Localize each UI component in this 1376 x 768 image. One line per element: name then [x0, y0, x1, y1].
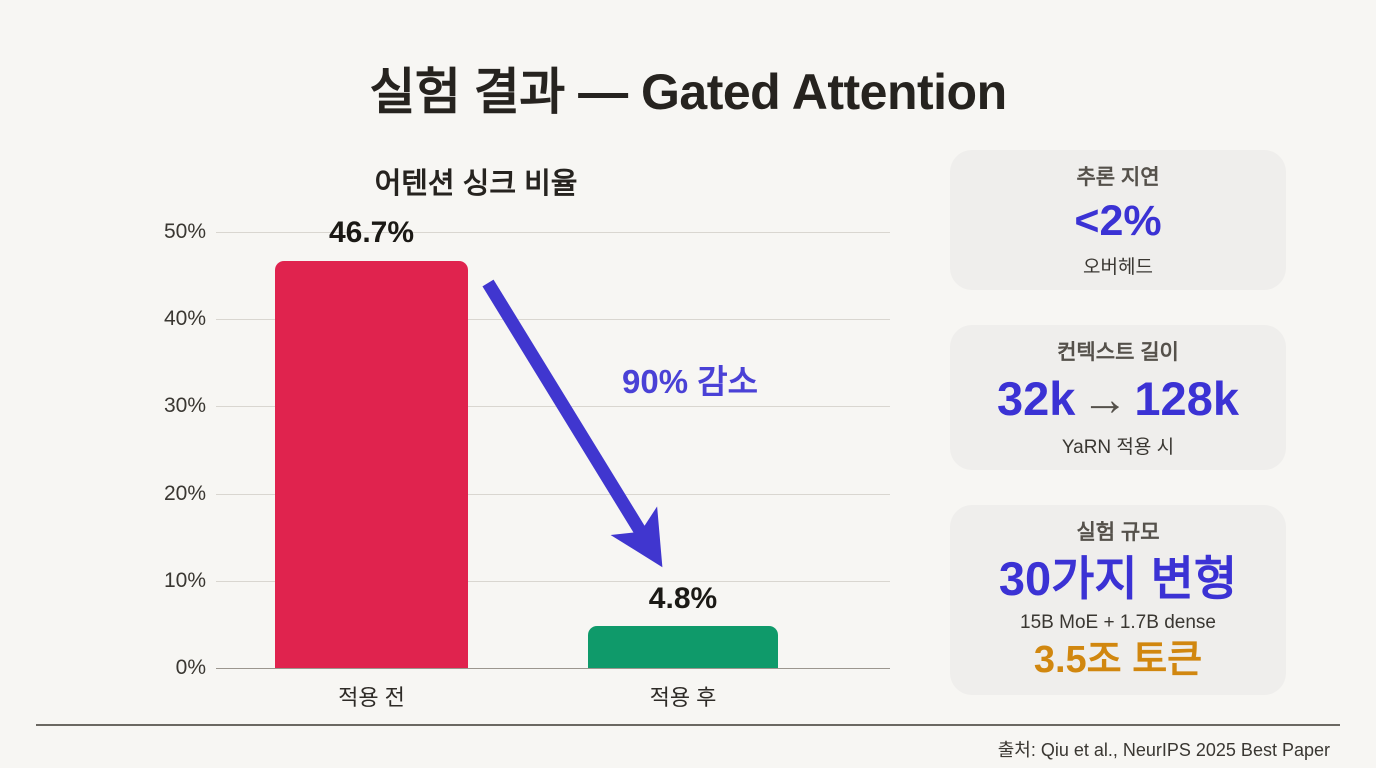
ytick-label-30: 30% [132, 394, 206, 418]
context-length-start: 32k [997, 372, 1075, 425]
stat-card-extra: 3.5조 토큰 [962, 638, 1274, 684]
stat-card-experiment-scale[interactable]: 실험 규모 30가지 변형 15B MoE + 1.7B dense 3.5조 … [950, 505, 1286, 695]
plot-area: 50% 40% 30% 20% 10% 0% 46.7% 4.8% 적용 전 적… [36, 150, 916, 710]
axis-baseline [216, 668, 890, 669]
xtick-label-after: 적용 후 [588, 680, 778, 712]
xtick-label-before: 적용 전 [275, 680, 468, 712]
ytick-label-0: 0% [132, 656, 206, 680]
context-length-end: 128k [1134, 372, 1239, 425]
ytick-label-10: 10% [132, 569, 206, 593]
right-arrow-icon: → [1075, 372, 1134, 425]
stat-card-sub: YaRN 적용 시 [962, 432, 1274, 459]
stat-cards-column: 추론 지연 <2% 오버헤드 컨텍스트 길이 32k→128k YaRN 적용 … [950, 150, 1286, 730]
footer-divider [36, 724, 1340, 726]
stat-card-value: 32k→128k [962, 370, 1274, 429]
bar-chart-panel: 어텐션 싱크 비율 50% 40% 30% 20% 10% 0% 46.7% 4… [36, 150, 916, 710]
stat-card-sub: 오버헤드 [962, 252, 1274, 279]
stat-card-label: 컨텍스트 길이 [962, 339, 1274, 366]
stat-card-inference-latency[interactable]: 추론 지연 <2% 오버헤드 [950, 150, 1286, 290]
ytick-label-50: 50% [132, 220, 206, 244]
ytick-label-20: 20% [132, 482, 206, 506]
stat-card-label: 추론 지연 [962, 164, 1274, 191]
bar-value-after: 4.8% [588, 582, 778, 616]
ytick-label-40: 40% [132, 307, 206, 331]
stat-card-context-length[interactable]: 컨텍스트 길이 32k→128k YaRN 적용 시 [950, 325, 1286, 470]
footer-source-text: 출처: Qiu et al., NeurIPS 2025 Best Paper [998, 736, 1330, 762]
stat-card-value: <2% [962, 195, 1274, 249]
bar-value-before: 46.7% [275, 216, 468, 250]
page-title: 실험 결과 — Gated Attention [0, 52, 1376, 124]
stat-card-label: 실험 규모 [962, 519, 1274, 546]
decline-annotation-label: 90% 감소 [570, 355, 810, 403]
bar-before[interactable] [275, 261, 468, 668]
bar-after[interactable] [588, 626, 778, 668]
stat-card-sub: 15B MoE + 1.7B dense [962, 612, 1274, 634]
stat-card-value: 30가지 변형 [962, 550, 1274, 609]
